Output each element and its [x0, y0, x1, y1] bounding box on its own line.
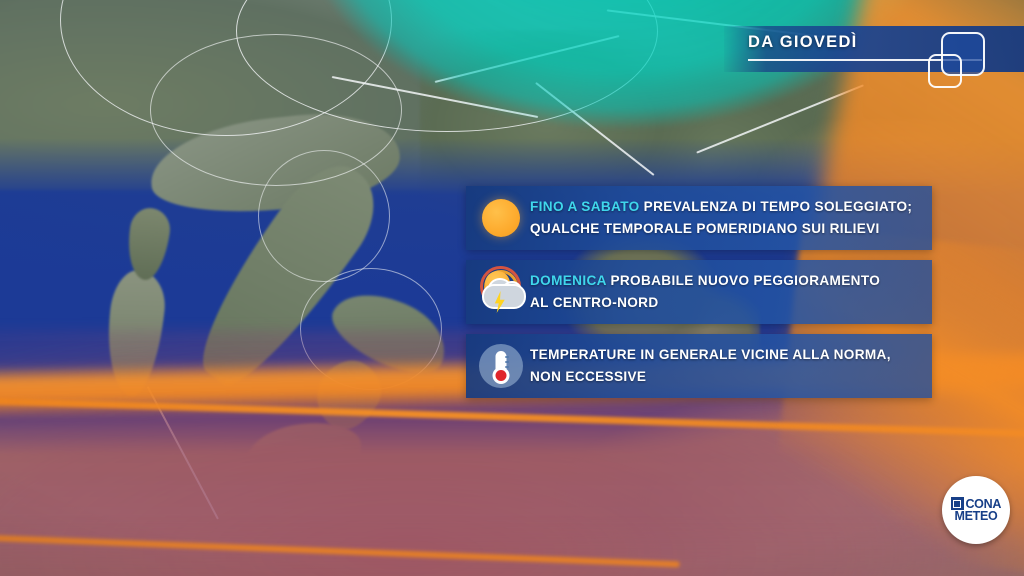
forecast-panel-list: FINO A SABATO PREVALENZA DI TEMPO SOLEGG… [466, 186, 932, 408]
forecast-panel-sunday[interactable]: DOMENICA PROBABILE NUOVO PEGGIORAMENTO A… [466, 260, 932, 324]
sun-icon [472, 186, 530, 250]
forecast-line1: PROBABILE NUOVO PEGGIORAMENTO [606, 273, 880, 288]
logo-text-2: METEO [955, 510, 998, 523]
header-title: DA GIOVEDÌ [748, 33, 858, 52]
forecast-line2: AL CENTRO-NORD [530, 295, 659, 310]
forecast-panel-temperature[interactable]: TEMPERATURE IN GENERALE VICINE ALLA NORM… [466, 334, 932, 398]
forecast-panel-text: TEMPERATURE IN GENERALE VICINE ALLA NORM… [530, 344, 901, 388]
square-logo-icon [951, 497, 964, 510]
forecast-line2: NON ECCESSIVE [530, 369, 646, 384]
forecast-line1: TEMPERATURE IN GENERALE VICINE ALLA NORM… [530, 347, 891, 362]
sun-cloud-lightning-icon [472, 260, 530, 324]
weather-map-screen: DA GIOVEDÌ FINO A SABATO PREVALENZA DI T… [0, 0, 1024, 576]
forecast-panel-saturday[interactable]: FINO A SABATO PREVALENZA DI TEMPO SOLEGG… [466, 186, 932, 250]
thermometer-icon [472, 334, 530, 398]
logo-line-2: METEO [955, 510, 998, 523]
forecast-panel-text: DOMENICA PROBABILE NUOVO PEGGIORAMENTO A… [530, 270, 890, 314]
rounded-square-small-icon [928, 54, 962, 88]
logo-text-1: CONA [965, 498, 1001, 511]
brand-logo[interactable]: CONA METEO [942, 476, 1010, 544]
forecast-line2: QUALCHE TEMPORALE POMERIDIANO SUI RILIEV… [530, 221, 880, 236]
forecast-accent-label: FINO A SABATO [530, 199, 640, 214]
forecast-line1: PREVALENZA DI TEMPO SOLEGGIATO; [640, 199, 913, 214]
forecast-panel-text: FINO A SABATO PREVALENZA DI TEMPO SOLEGG… [530, 196, 922, 240]
forecast-accent-label: DOMENICA [530, 273, 606, 288]
